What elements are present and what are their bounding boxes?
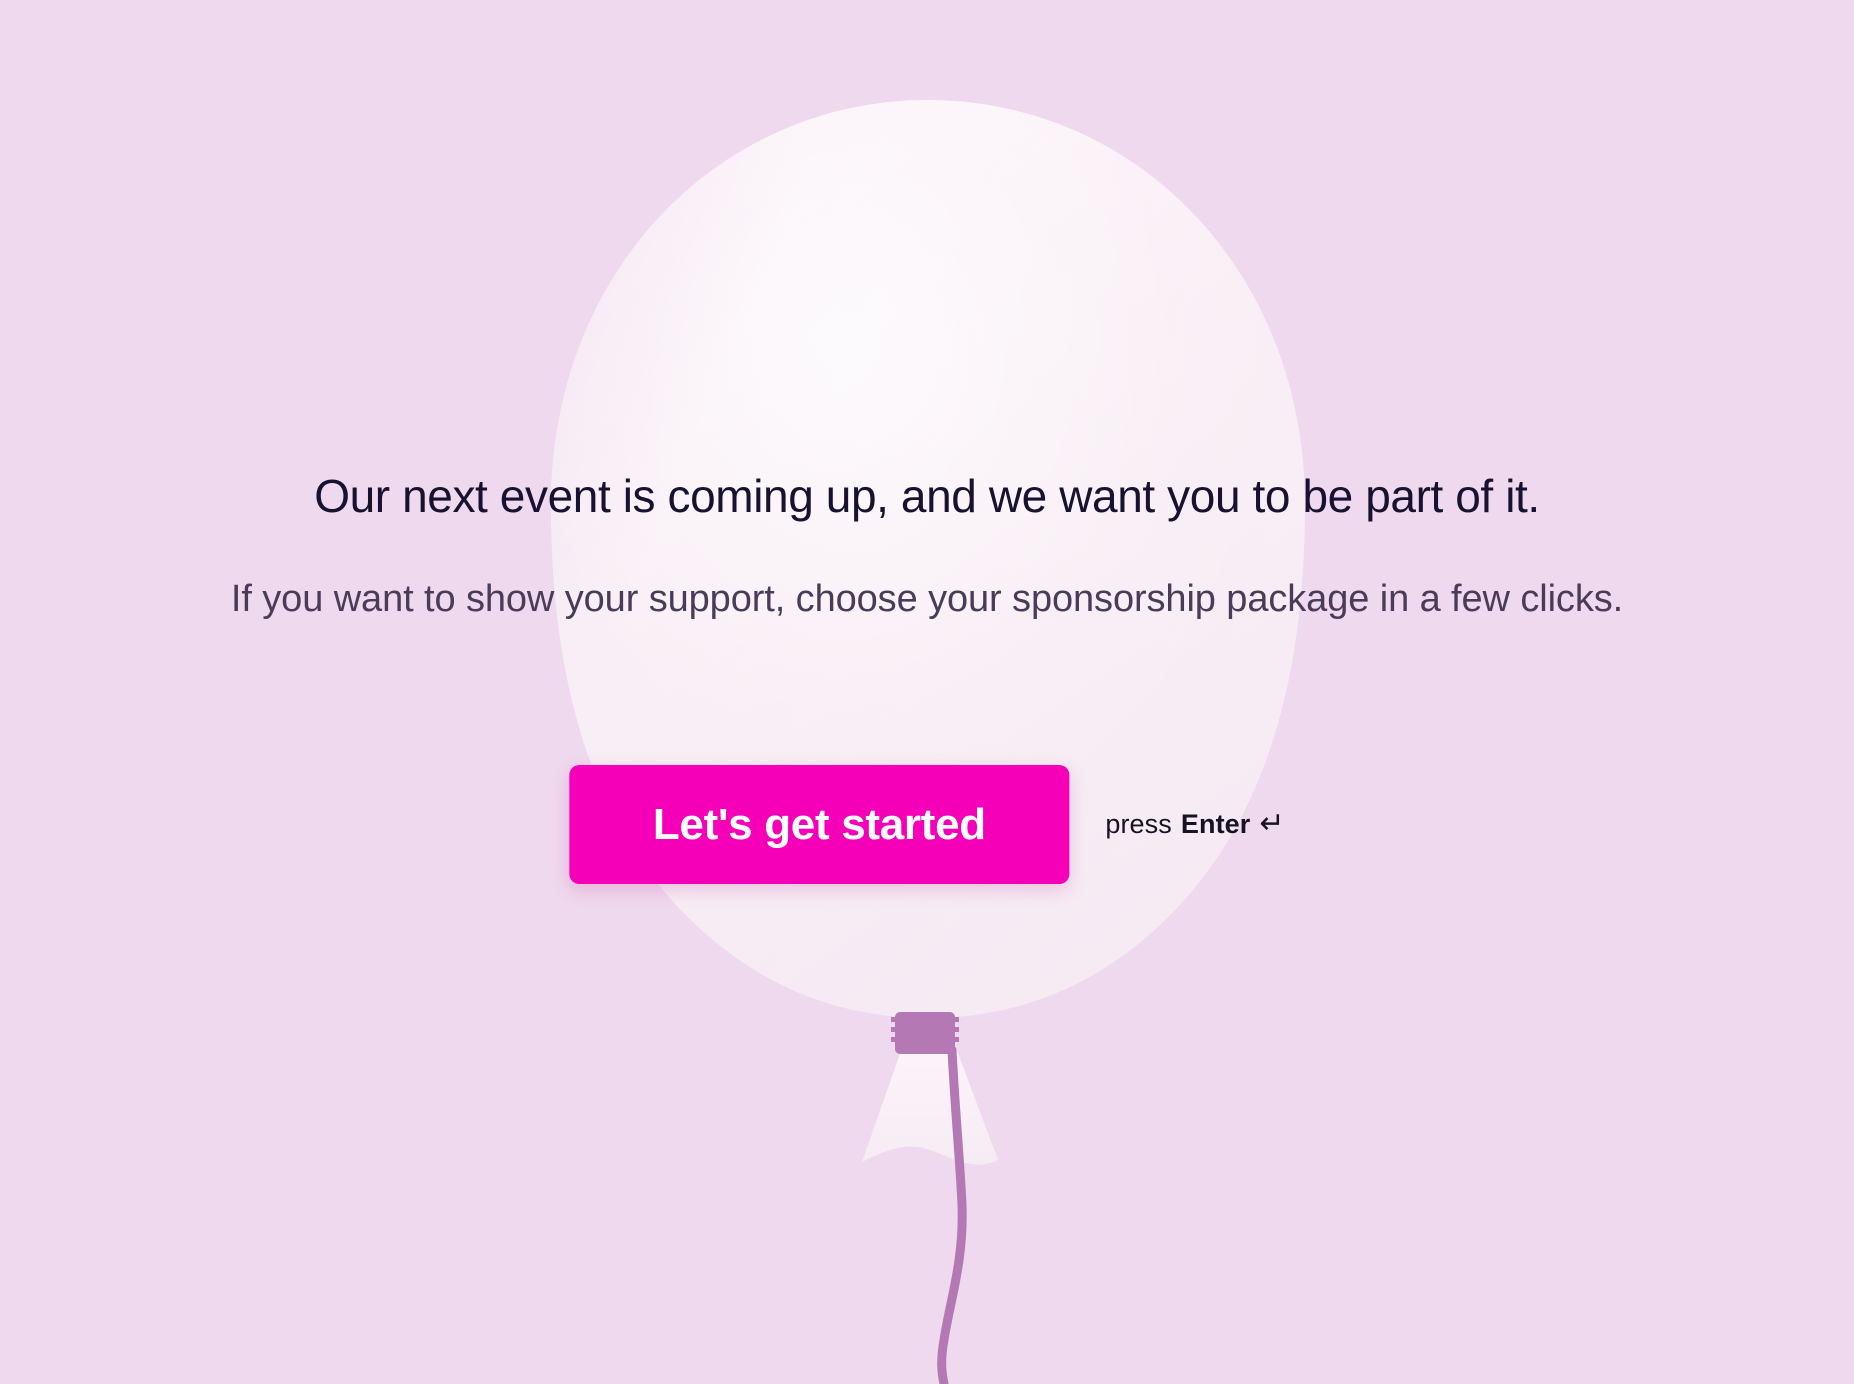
page-subtitle: If you want to show your support, choose… bbox=[197, 572, 1657, 627]
keyboard-hint: press Enter ↵ bbox=[1105, 809, 1284, 840]
page-title: Our next event is coming up, and we want… bbox=[177, 468, 1677, 524]
cta-row: Let's get started press Enter ↵ bbox=[569, 765, 1284, 884]
enter-key-icon: ↵ bbox=[1259, 809, 1284, 839]
keyboard-hint-key: Enter bbox=[1181, 809, 1251, 840]
welcome-screen: Our next event is coming up, and we want… bbox=[0, 0, 1854, 1384]
content-layer: Our next event is coming up, and we want… bbox=[0, 0, 1854, 1384]
lets-get-started-button[interactable]: Let's get started bbox=[569, 765, 1069, 884]
keyboard-hint-prefix: press bbox=[1105, 809, 1172, 840]
